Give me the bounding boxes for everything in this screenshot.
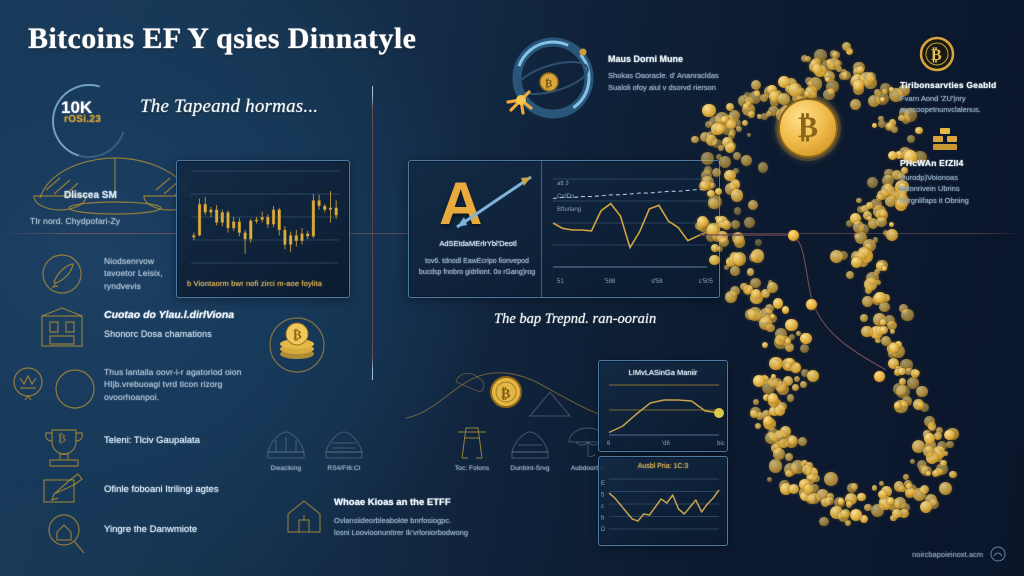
map-coin bbox=[721, 116, 728, 123]
map-coin bbox=[747, 133, 751, 137]
chart-card-canvas-1: E5cbD bbox=[599, 473, 727, 543]
svg-text:₿: ₿ bbox=[931, 46, 942, 64]
center-panel-heading: AdSEtdaMErlrYbl'Deotl bbox=[419, 239, 537, 248]
stat-badge: 10K rOSi.23 bbox=[52, 84, 126, 158]
svg-text:b: b bbox=[601, 516, 605, 522]
map-coin bbox=[733, 168, 739, 174]
map-coin bbox=[846, 501, 853, 508]
map-coin bbox=[853, 80, 864, 91]
rig-outline-icon bbox=[448, 418, 496, 460]
bottom-icon-2[interactable]: Toc: Folons bbox=[448, 418, 496, 472]
left-hero-heading: Dliscea SM bbox=[64, 190, 117, 201]
svg-text:CrdDo...: CrdDo... bbox=[557, 194, 580, 200]
map-coin bbox=[907, 135, 915, 143]
map-coin bbox=[842, 42, 851, 51]
primary-bitcoin-coin[interactable]: ₿ bbox=[778, 98, 838, 158]
svg-text:₿: ₿ bbox=[501, 386, 510, 402]
note-pencil-icon bbox=[40, 472, 92, 512]
bank-outline-icon bbox=[262, 418, 310, 460]
map-coin bbox=[864, 504, 872, 512]
right-annotation-heading-0: Tiribonsarvties Geabld bbox=[900, 80, 1020, 90]
map-coin bbox=[946, 441, 953, 448]
map-coin bbox=[932, 470, 939, 477]
svg-text:'d6: 'd6 bbox=[662, 441, 670, 447]
map-coin bbox=[755, 423, 761, 429]
bitcoin-badge-icon: ₿ bbox=[919, 36, 955, 72]
gold-bars-icon bbox=[930, 124, 960, 152]
map-coin bbox=[888, 151, 898, 161]
bottom-icon-0[interactable]: Dwaciking bbox=[262, 418, 310, 472]
map-coin bbox=[778, 402, 787, 411]
cloud-outline-icon bbox=[320, 418, 368, 460]
map-coin bbox=[751, 80, 761, 90]
center-panel-body: tov6. tdnodl EawEcripo fionvepod bucdsp … bbox=[415, 257, 539, 279]
map-coin bbox=[742, 120, 748, 126]
right-annotation-body-0: Fvarn Aond 'ZU'|nry nuncoopetnunvclalenu… bbox=[900, 93, 1020, 116]
map-node-3[interactable] bbox=[873, 370, 886, 383]
map-coin bbox=[824, 472, 838, 486]
exchange-building-icon bbox=[36, 306, 88, 352]
map-coin bbox=[807, 81, 813, 87]
svg-text:'598: '598 bbox=[604, 279, 616, 285]
map-coin bbox=[789, 484, 799, 494]
map-coin bbox=[769, 459, 783, 473]
map-coin bbox=[785, 453, 793, 461]
rising-arrow-icon bbox=[445, 171, 539, 233]
map-coin bbox=[773, 448, 785, 460]
map-coin bbox=[878, 116, 884, 122]
map-coin bbox=[798, 437, 807, 446]
map-coin bbox=[920, 485, 929, 494]
map-coin bbox=[808, 493, 819, 504]
map-coin bbox=[778, 93, 790, 105]
trophy-icon: ₿ bbox=[40, 424, 88, 470]
map-coin bbox=[894, 497, 906, 509]
map-node-1[interactable] bbox=[787, 229, 800, 242]
map-coin bbox=[825, 77, 830, 82]
orbit-coin-icon: ₿ bbox=[505, 34, 601, 120]
map-coin bbox=[766, 111, 771, 116]
map-coin bbox=[825, 497, 834, 506]
left-item-body-3: Thus lantaila oovr-i-r agatoriod oion HI… bbox=[104, 366, 254, 403]
map-coin bbox=[920, 501, 932, 513]
house-icon bbox=[284, 496, 324, 536]
svg-text:att 3: att 3 bbox=[557, 181, 569, 187]
center-line-chart: att 3CrdDo...Bfturlang51'598d'58c'505 bbox=[543, 165, 715, 293]
svg-text:₿: ₿ bbox=[58, 431, 66, 445]
shield-crown-icon bbox=[8, 362, 48, 402]
right-annotation-heading-1: PHcWAn EfZIl4 bbox=[900, 158, 1020, 168]
bottom-icon-1[interactable]: RS4/FI6:CI bbox=[320, 418, 368, 472]
candlestick-panel[interactable]: b Viontaorm bwr nofi zirci m-aoe foylita bbox=[176, 160, 350, 298]
svg-text:c: c bbox=[601, 504, 604, 510]
map-coin bbox=[741, 155, 752, 166]
svg-text:6: 6 bbox=[607, 441, 611, 447]
map-coin bbox=[733, 152, 741, 160]
svg-text:5: 5 bbox=[601, 493, 605, 499]
map-coin bbox=[940, 460, 946, 466]
chart-card-title-1: Ausbl Pria: 1C:3 bbox=[599, 463, 727, 470]
footer: noircbapoieinoxt.acm bbox=[912, 546, 1006, 562]
map-coin bbox=[871, 504, 885, 518]
map-coin bbox=[748, 111, 754, 117]
svg-text:Bfturlang: Bfturlang bbox=[557, 207, 581, 213]
map-coin bbox=[885, 122, 894, 131]
map-coin bbox=[850, 99, 861, 110]
map-coin bbox=[949, 471, 957, 479]
svg-text:51: 51 bbox=[557, 279, 564, 285]
map-coin bbox=[715, 124, 725, 134]
bottom-icon-label-2: Toc: Folons bbox=[448, 465, 496, 472]
map-coin bbox=[874, 89, 881, 96]
candlestick-caption: b Viontaorm bwr nofi zirci m-aoe foylita bbox=[187, 279, 322, 288]
svg-text:₿: ₿ bbox=[293, 327, 302, 342]
magnifier-home-icon bbox=[44, 512, 90, 560]
chart-card-canvas-0: 6'd6bic bbox=[599, 379, 727, 449]
map-coin bbox=[838, 498, 844, 504]
svg-text:E: E bbox=[601, 481, 605, 487]
left-item-heading-6: Yingre the Danwmiote bbox=[104, 524, 197, 535]
map-coin bbox=[880, 97, 885, 102]
bottom-callout-heading: Whoae Kioas an the ETFF bbox=[334, 497, 451, 508]
coin-stack-icon: ₿ bbox=[268, 316, 326, 374]
left-item-heading-2: Cuotao do Ylau.l.dirlViona bbox=[104, 309, 234, 321]
svg-text:D: D bbox=[601, 527, 606, 533]
map-coin bbox=[804, 484, 813, 493]
map-coin bbox=[851, 483, 859, 491]
map-coin bbox=[728, 142, 737, 151]
map-coin bbox=[910, 459, 916, 465]
map-coin bbox=[872, 485, 878, 491]
map-coin bbox=[712, 168, 721, 177]
map-coin bbox=[704, 166, 712, 174]
bottom-icon-row: Dwaciking RS4/FI6:CI Toc: Folons Dunbint… bbox=[262, 418, 592, 472]
bottom-icon-label-3: Dunbint-Srvg bbox=[506, 465, 554, 472]
chart-card-1[interactable]: Ausbl Pria: 1C:3 E5cbD bbox=[598, 456, 728, 546]
center-section-heading: The bap Trepnd. ran-oorain bbox=[494, 311, 656, 328]
stat-badge-unit: rOSi.23 bbox=[64, 114, 101, 125]
map-coin bbox=[915, 127, 923, 135]
map-coin bbox=[823, 89, 834, 100]
map-coin bbox=[712, 139, 722, 149]
svg-text:₿: ₿ bbox=[545, 78, 553, 90]
map-coin bbox=[804, 91, 810, 97]
map-coin bbox=[924, 416, 935, 427]
map-coin bbox=[763, 416, 773, 426]
map-coin bbox=[701, 152, 714, 165]
map-coin bbox=[758, 162, 769, 173]
map-coin bbox=[842, 71, 851, 80]
center-panel[interactable]: A AdSEtdaMErlrYbl'Deotl tov6. tdnodl Eaw… bbox=[408, 160, 720, 298]
chart-card-0[interactable]: LIMvLASinGa Maniir 6'd6bic bbox=[598, 360, 728, 452]
chart-card-title-0: LIMvLASinGa Maniir bbox=[599, 368, 727, 377]
map-coin bbox=[939, 482, 952, 495]
map-coin bbox=[906, 483, 912, 489]
map-coin bbox=[926, 471, 931, 476]
left-item-body-2: Shonorc Dosa chamations bbox=[104, 328, 212, 341]
map-coin bbox=[729, 129, 736, 136]
left-hero-body: TIr nord. Chydpofari-Zy bbox=[30, 215, 190, 227]
map-coin bbox=[736, 126, 742, 132]
bottom-icon-3[interactable]: Dunbint-Srvg bbox=[506, 418, 554, 472]
map-coin bbox=[903, 474, 909, 480]
footer-text: noircbapoieinoxt.acm bbox=[912, 550, 983, 559]
map-coin bbox=[757, 114, 762, 119]
left-item-heading-5: Ofinle foboani Itrilingi agtes bbox=[104, 484, 219, 495]
map-coin bbox=[716, 154, 722, 160]
left-item-heading-4: Teleni: Tlciv Gaupalata bbox=[104, 435, 200, 446]
map-coin bbox=[936, 427, 943, 434]
map-node-2[interactable] bbox=[805, 298, 818, 311]
orb-callout-heading: Maus Dorni Mune bbox=[608, 54, 683, 64]
map-coin bbox=[819, 517, 828, 526]
cloud2-outline-icon bbox=[506, 418, 554, 460]
page-subtitle: The Tapeand hormas... bbox=[140, 96, 318, 118]
map-coin bbox=[691, 136, 698, 143]
map-coin bbox=[767, 477, 773, 483]
target-circle-icon bbox=[54, 368, 96, 410]
page-title: Bitcoins EF Y qsies Dinnatyle bbox=[28, 22, 416, 56]
bottom-icon-label-0: Dwaciking bbox=[262, 465, 310, 472]
map-coin bbox=[872, 123, 877, 128]
connector-path bbox=[700, 180, 1024, 400]
rocket-circle-icon bbox=[40, 252, 84, 296]
svg-text:d'58: d'58 bbox=[651, 279, 663, 285]
infographic-canvas: Bitcoins EF Y qsies Dinnatyle 10K rOSi.2… bbox=[0, 0, 1024, 576]
bottom-icon-label-1: RS4/FI6:CI bbox=[320, 465, 368, 472]
bottom-callout-body: Ovlansiideorbleabokte bnrfosiogpc. losni… bbox=[334, 515, 524, 538]
right-annotation-body-1: Durodp)Voionoas liotonrivein Ubrins borg… bbox=[900, 172, 1020, 206]
map-coin bbox=[857, 493, 865, 501]
map-coin bbox=[898, 115, 905, 122]
watermark-icon bbox=[990, 546, 1006, 562]
svg-text:bic: bic bbox=[717, 441, 725, 447]
map-coin bbox=[879, 481, 885, 487]
candlestick-chart bbox=[177, 161, 349, 271]
